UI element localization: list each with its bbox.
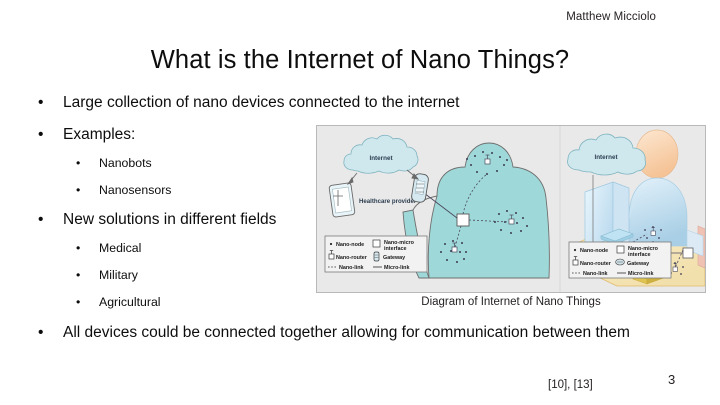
page-title: What is the Internet of Nano Things? — [0, 46, 720, 75]
person-at-desk — [629, 130, 687, 246]
legend-left: Nano-node Nano-micro interface Nano-rout… — [325, 236, 427, 272]
bullet-text: Large collection of nano devices connect… — [63, 93, 663, 112]
bullet-text: New solutions in different fields — [63, 210, 318, 229]
desk-monitor — [585, 182, 629, 252]
bullet-marker: • — [38, 210, 43, 229]
legend-nano-node-icon — [330, 243, 332, 245]
bullet-item: • All devices could be connected togethe… — [38, 323, 720, 342]
figure-caption: Diagram of Internet of Nano Things — [316, 296, 706, 308]
left-panel-scene: Internet Healthcare provider — [325, 135, 549, 278]
legend-nano-micro-icon-right — [617, 246, 624, 253]
legend-label-micro-link: Micro-link — [384, 265, 409, 271]
bullet-marker: • — [38, 125, 43, 144]
legend-nano-node-icon-right — [574, 249, 576, 251]
legend-label-nano-micro-2: interface — [384, 246, 406, 252]
legend-label-nano-node: Nano-node — [336, 242, 364, 248]
nano-micro-interface-body — [457, 214, 469, 226]
right-panel-scene: Internet — [568, 130, 705, 286]
legend-gateway-icon-right — [616, 259, 625, 265]
legend-label-nano-router: Nano-router — [336, 255, 368, 261]
legend-label-gateway: Gateway — [383, 255, 405, 261]
legend-right: Nano-node Nano-micro interface Nano-rout… — [569, 242, 671, 278]
bullet-marker: • — [38, 323, 43, 342]
legend-label-nano-micro-2-right: interface — [628, 252, 650, 258]
figure-iont-diagram: Internet Healthcare provider — [316, 125, 706, 293]
bullet-marker: • — [76, 294, 80, 310]
legend-gateway-icon — [374, 252, 379, 261]
cloud-label-right: Internet — [594, 154, 618, 161]
legend-label-micro-link-right: Micro-link — [628, 271, 653, 277]
legend-label-nano-node-right: Nano-node — [580, 248, 608, 254]
citation-text: [10], [13] — [548, 379, 593, 391]
figure-frame: Internet Healthcare provider — [316, 125, 706, 293]
bullet-marker: • — [38, 93, 43, 112]
spacer — [0, 310, 720, 323]
person-body — [629, 178, 687, 246]
legend-nano-micro-icon — [373, 240, 380, 247]
bullet-text: All devices could be connected together … — [63, 323, 663, 342]
bullet-marker: • — [76, 182, 80, 198]
spacer — [0, 112, 720, 125]
author-name: Matthew Micciolo — [566, 11, 656, 23]
bullet-item: • Large collection of nano devices conne… — [38, 93, 720, 112]
bullet-marker: • — [76, 240, 80, 256]
bullet-marker: • — [76, 155, 80, 171]
legend-label-nano-router-right: Nano-router — [580, 261, 612, 267]
internet-cloud-left: Internet — [344, 135, 418, 173]
legend-label-nano-link: Nano-link — [339, 265, 364, 271]
slide: Matthew Micciolo What is the Internet of… — [0, 0, 720, 405]
healthcare-provider-label: Healthcare provider — [359, 198, 417, 205]
legend-label-nano-link-right: Nano-link — [583, 271, 608, 277]
nano-micro-interface-desk-right — [683, 248, 693, 258]
internet-cloud-right: Internet — [568, 134, 646, 175]
page-number: 3 — [668, 372, 675, 387]
bullet-marker: • — [76, 267, 80, 283]
iont-diagram-svg: Internet Healthcare provider — [317, 126, 705, 292]
healthcare-provider-tablet — [329, 183, 355, 218]
legend-label-gateway-right: Gateway — [627, 261, 649, 267]
cloud-label-left: Internet — [369, 155, 393, 162]
